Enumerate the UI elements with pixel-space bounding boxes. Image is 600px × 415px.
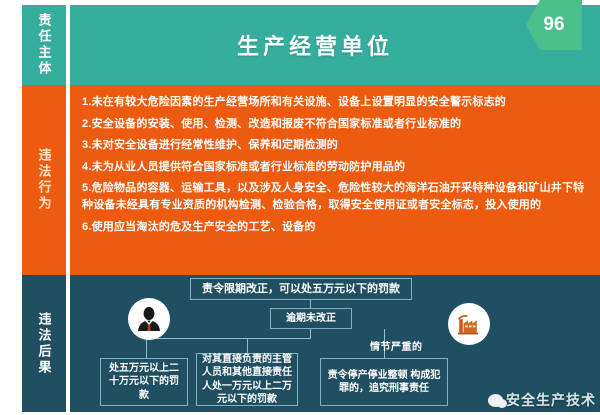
- sidebar-item-label: 责任主体: [38, 13, 51, 77]
- connector-line: [146, 338, 311, 339]
- factory-icon: [448, 303, 490, 345]
- page-number-badge: 96: [526, 0, 582, 50]
- flow-box-overdue: 逾期未改正: [270, 308, 352, 329]
- flow-tag-severe-case: 情节严重的: [370, 338, 423, 353]
- violation-item: 5.危险物品的容器、运输工具，以及涉及人身安全、危险性较大的海洋石油开采特种设备…: [82, 180, 586, 214]
- flow-box-entity-fine: 处五万元以上二十万元以下的罚款: [100, 358, 188, 406]
- connector-line: [310, 300, 311, 308]
- header-band: 生产经营单位 96: [70, 5, 600, 85]
- connector-line: [247, 338, 248, 353]
- sidebar-item-illegal-consequence: 违法后果: [22, 275, 66, 412]
- flow-box-stop-production: 责令停产停业整顿 构成犯罪的，追究刑事责任: [320, 358, 448, 406]
- violation-item: 3.未对安全设备进行经常性维护、保养和定期检测的: [82, 137, 586, 154]
- connector-line: [146, 338, 147, 358]
- watermark-text: 安全生产技术: [506, 390, 596, 410]
- sidebar-item-illegal-behavior: 违法行为: [22, 85, 66, 275]
- person-icon: [128, 298, 170, 340]
- watermark: 安全生产技术: [488, 390, 596, 410]
- violations-section: 1.未在有较大危险因素的生产经营场所和有关设施、设备上设置明显的安全警示标志的 …: [70, 85, 600, 275]
- violation-item: 6.使用应当淘汰的危及生产安全的工艺、设备的: [82, 219, 586, 236]
- violation-item: 1.未在有较大危险因素的生产经营场所和有关设施、设备上设置明显的安全警示标志的: [82, 94, 586, 111]
- flow-box-responsible-persons-fine: 对其直接负责的主管人员和其他直接责任人处一万元以上二万元以下的罚款: [196, 353, 298, 406]
- consequences-section: 责令限期改正，可以处五万元以下的罚款 逾期未改正 情节严重的 处五万元以上二十万…: [70, 275, 600, 412]
- category-label-column: 责任主体 违法行为 违法后果: [22, 5, 66, 412]
- violation-item: 4.未为从业人员提供符合国家标准或者行业标准的劳动防护用品的: [82, 159, 586, 176]
- violation-item: 2.安全设备的安装、使用、检测、改造和报废不符合国家标准或者行业标准的: [82, 116, 586, 133]
- page-title: 生产经营单位: [237, 29, 393, 61]
- sidebar-item-responsible-entity: 责任主体: [22, 5, 66, 85]
- main-content-column: 生产经营单位 96 1.未在有较大危险因素的生产经营场所和有关设施、设备上设置明…: [70, 5, 600, 412]
- wechat-icon: [488, 394, 503, 407]
- flow-box-order-correction: 责令限期改正，可以处五万元以下的罚款: [190, 278, 412, 300]
- sidebar-item-label: 违法后果: [38, 312, 51, 376]
- connector-line: [310, 329, 311, 338]
- sidebar-item-label: 违法行为: [38, 148, 51, 212]
- infographic-poster: 责任主体 违法行为 违法后果 生产经营单位 96 1.未在有较大危险因素的生产经…: [0, 0, 600, 415]
